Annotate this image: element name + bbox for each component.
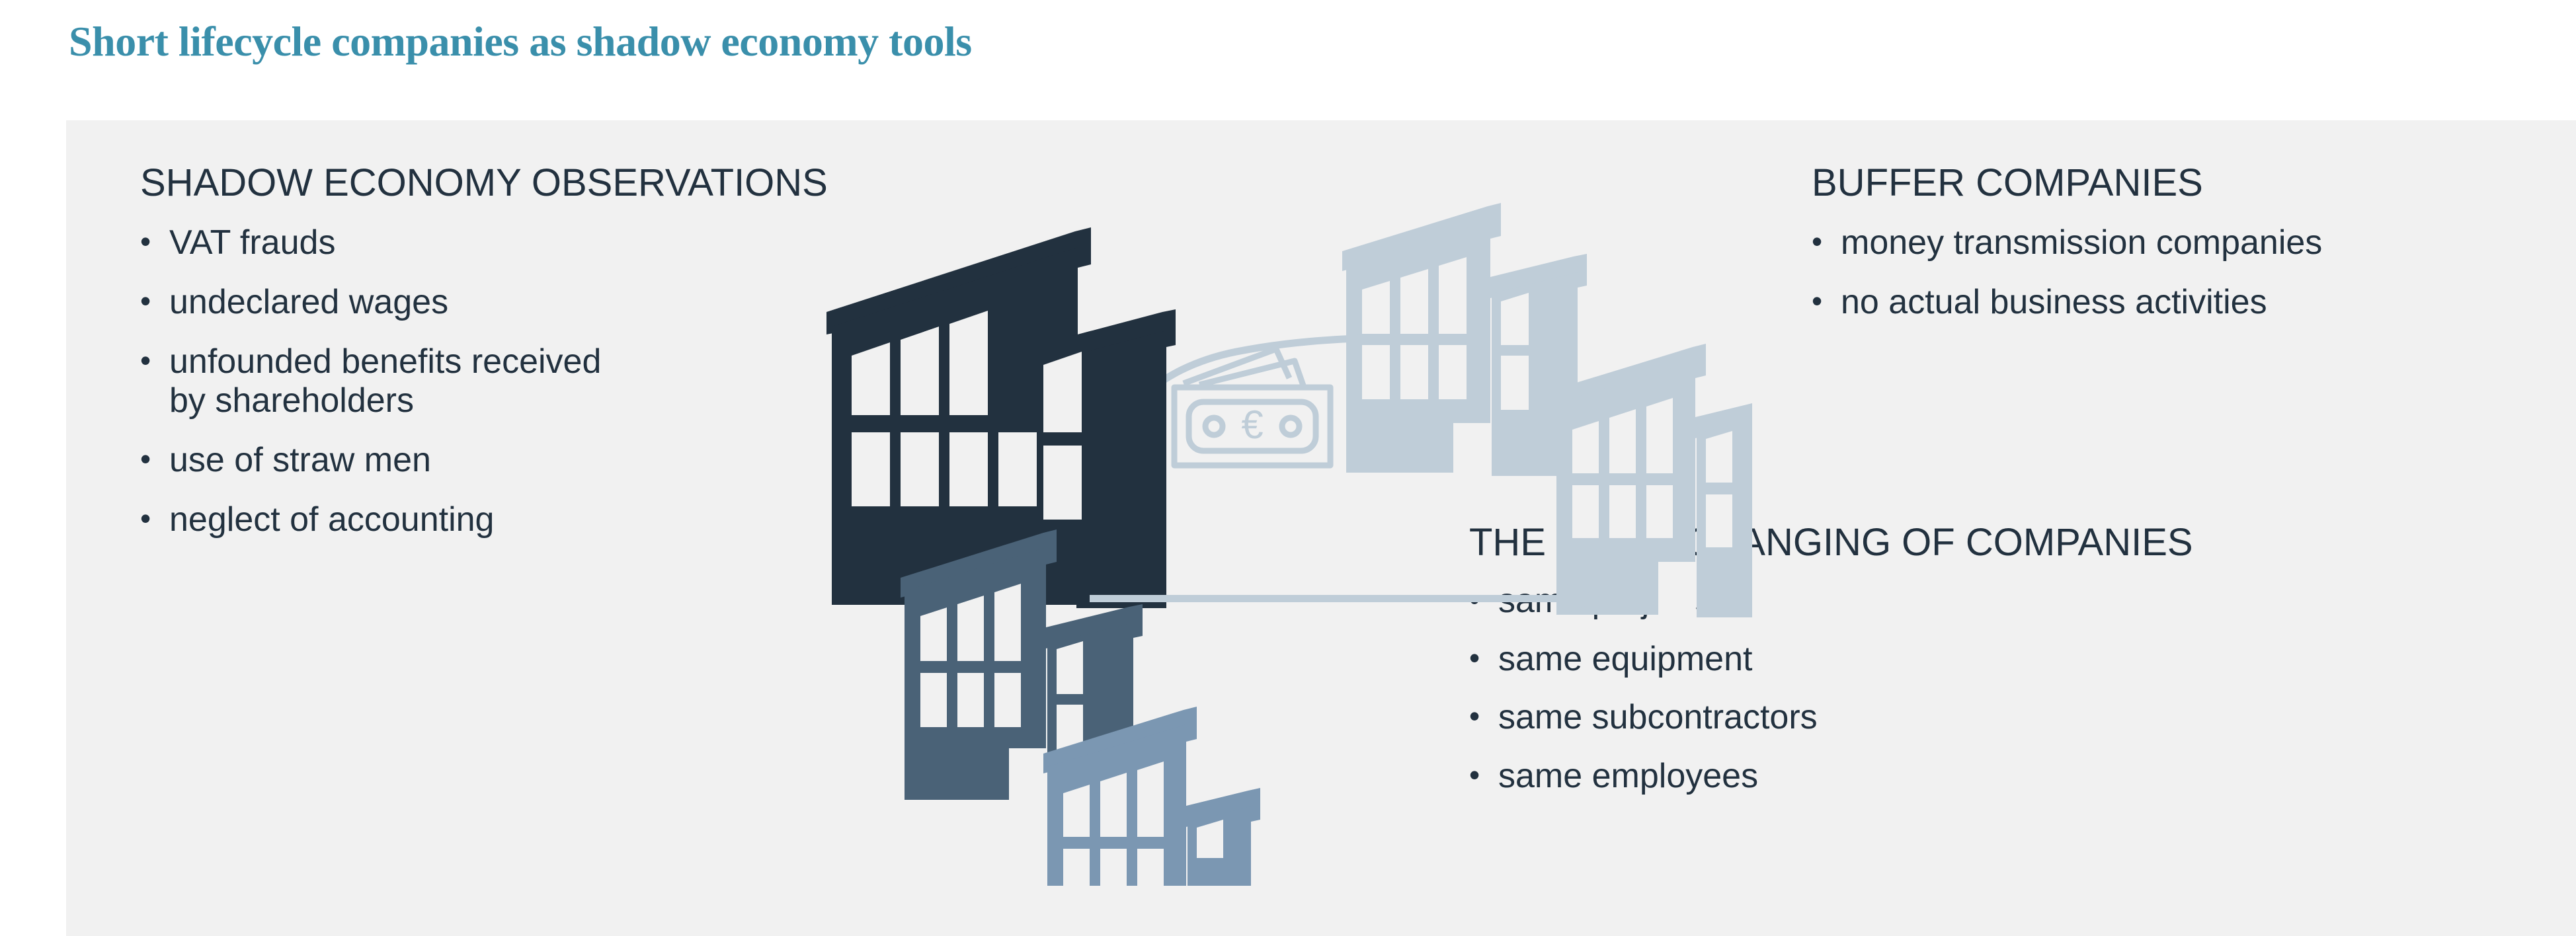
- list-item-label: VAT frauds: [169, 223, 867, 262]
- list-item-label: unfounded benefits received by sharehold…: [169, 342, 867, 419]
- list-item: • unfounded benefits received by shareho…: [140, 342, 867, 419]
- money-flow-straight-arrow: [1090, 584, 1604, 613]
- list-item: • no actual business activities: [1812, 283, 2546, 321]
- list-item-label: use of straw men: [169, 441, 867, 479]
- list-item-label: money transmission companies: [1841, 223, 2546, 262]
- section-shadow-economy-observations: SHADOW ECONOMY OBSERVATIONS • VAT frauds…: [140, 164, 867, 560]
- bullet-marker-icon: •: [140, 283, 169, 319]
- section-buffer-companies: BUFFER COMPANIES • money transmission co…: [1812, 164, 2546, 342]
- company-chain-illustration: €: [813, 172, 1752, 886]
- list-item-label: neglect of accounting: [169, 500, 867, 539]
- list-item-label: undeclared wages: [169, 283, 867, 321]
- bullet-marker-icon: •: [1812, 223, 1841, 259]
- bullet-list-observations: • VAT frauds • undeclared wages • unfoun…: [140, 223, 867, 539]
- section-heading-observations: SHADOW ECONOMY OBSERVATIONS: [140, 164, 867, 202]
- slide-root: Short lifecycle companies as shadow econ…: [0, 0, 2576, 936]
- list-item: • undeclared wages: [140, 283, 867, 321]
- banknote-currency-symbol: €: [1241, 403, 1263, 447]
- list-item-label: no actual business activities: [1841, 283, 2546, 321]
- bullet-marker-icon: •: [140, 223, 169, 259]
- list-item: • money transmission companies: [1812, 223, 2546, 262]
- bullet-marker-icon: •: [140, 500, 169, 536]
- bullet-marker-icon: •: [140, 342, 169, 378]
- buffer-company-building-lower: [1552, 344, 1752, 617]
- list-item: • neglect of accounting: [140, 500, 867, 539]
- page-title: Short lifecycle companies as shadow econ…: [69, 17, 972, 66]
- section-heading-buffer: BUFFER COMPANIES: [1812, 164, 2546, 202]
- list-item: • VAT frauds: [140, 223, 867, 262]
- bullet-marker-icon: •: [1812, 283, 1841, 319]
- list-item: • use of straw men: [140, 441, 867, 479]
- bullet-list-buffer: • money transmission companies • no actu…: [1812, 223, 2546, 321]
- bullet-marker-icon: •: [140, 441, 169, 477]
